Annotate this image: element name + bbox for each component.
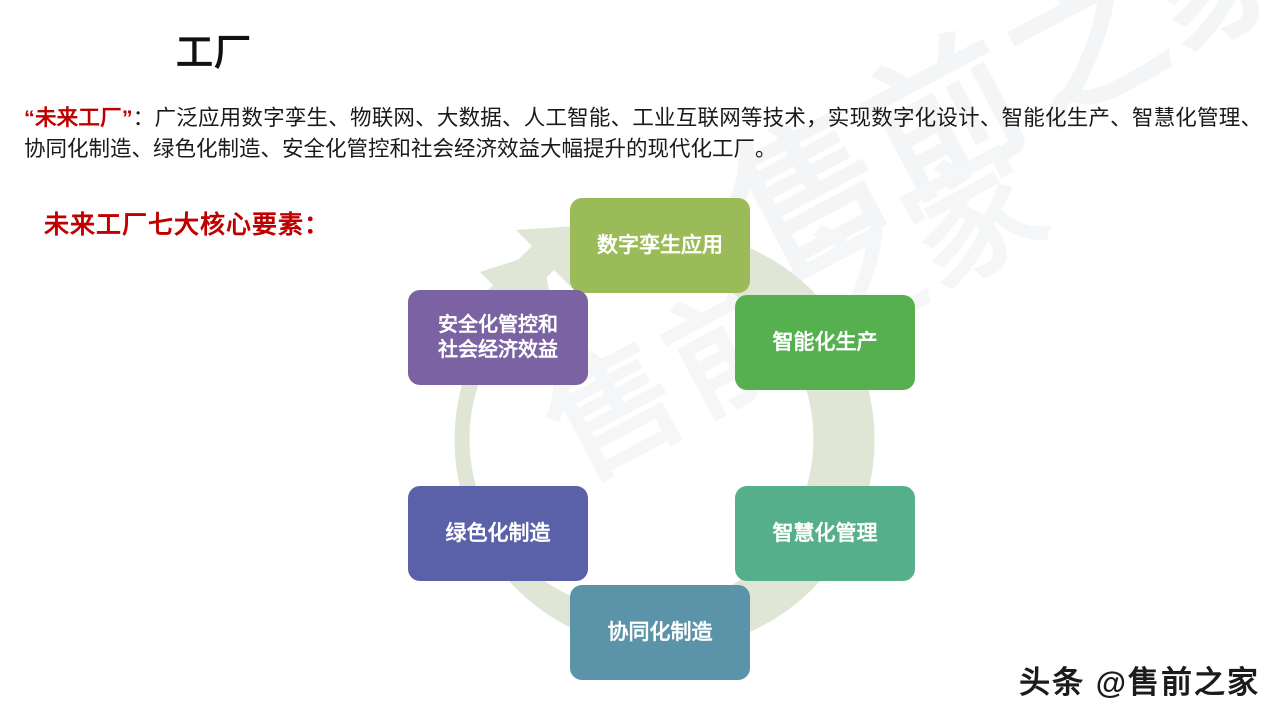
slide-canvas: 售前之家 售前之家 工厂 “未来工厂”：广泛应用数字孪生、物联网、大数据、人工智… [0,0,1280,720]
footer-handle-prefix: 头条 [1019,665,1085,700]
cycle-node-intelligent-production[interactable]: 智能化生产 [735,295,915,390]
cycle-node-safety-and-benefit[interactable]: 安全化管控和社会经济效益 [408,290,588,385]
cycle-node-digital-twin[interactable]: 数字孪生应用 [570,198,750,293]
page-title: 工厂 [176,22,252,76]
cycle-node-green-manufacturing[interactable]: 绿色化制造 [408,486,588,581]
paragraph-body: 广泛应用数字孪生、物联网、大数据、人工智能、工业互联网等技术，实现数字化设计、智… [24,106,1262,161]
cycle-node-label: 协同化制造 [608,620,713,646]
footer-handle-name: 售前之家 [1128,665,1260,700]
cycle-node-label: 绿色化制造 [446,521,551,547]
cycle-diagram: 数字孪生应用 智能化生产 智慧化管理 协同化制造 绿色化制造 安全化管控和社会经… [380,190,940,690]
cycle-node-label: 数字孪生应用 [597,233,723,259]
paragraph-separator: ： [133,106,155,130]
footer-handle: 头条 @售前之家 [1019,657,1260,702]
section-label: 未来工厂七大核心要素： [44,205,330,241]
cycle-node-label: 安全化管控和社会经济效益 [438,313,558,362]
cycle-node-label: 智能化生产 [773,330,878,356]
cycle-node-collaborative-manufacturing[interactable]: 协同化制造 [570,585,750,680]
lead-paragraph: “未来工厂”：广泛应用数字孪生、物联网、大数据、人工智能、工业互联网等技术，实现… [24,103,1262,165]
cycle-node-smart-management[interactable]: 智慧化管理 [735,486,915,581]
cycle-node-label: 智慧化管理 [773,521,878,547]
at-icon: @ [1096,665,1128,700]
paragraph-highlight: “未来工厂” [24,106,133,130]
